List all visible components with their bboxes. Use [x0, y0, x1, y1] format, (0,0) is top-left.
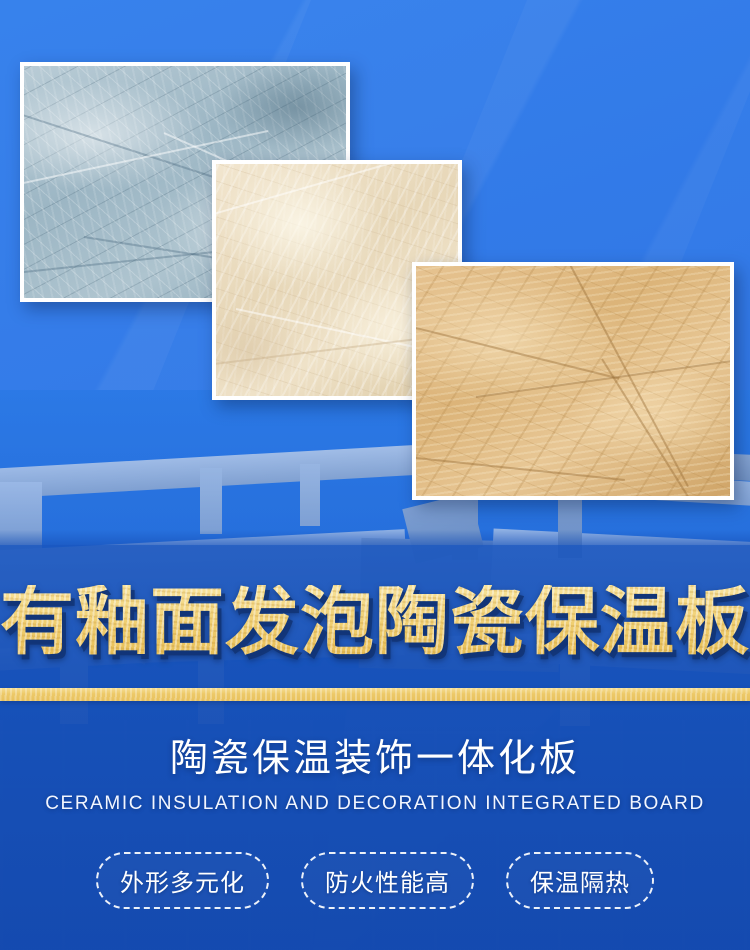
feature-badge-list: 外形多元化 防火性能高 保温隔热 [0, 852, 750, 909]
page-title: 有釉面发泡陶瓷保温板 [0, 585, 750, 659]
sample-tile-golden-tan-marble[interactable] [412, 262, 734, 500]
subtitle-chinese: 陶瓷保温装饰一体化板 [0, 738, 750, 780]
feature-badge[interactable]: 外形多元化 [96, 852, 269, 909]
gold-divider-bar [0, 688, 750, 701]
feature-badge[interactable]: 保温隔热 [506, 852, 654, 909]
feature-badge[interactable]: 防火性能高 [301, 852, 474, 909]
product-poster: 有釉面发泡陶瓷保温板 陶瓷保温装饰一体化板 CERAMIC INSULATION… [0, 0, 750, 950]
subtitle-english: CERAMIC INSULATION AND DECORATION INTEGR… [0, 794, 750, 815]
